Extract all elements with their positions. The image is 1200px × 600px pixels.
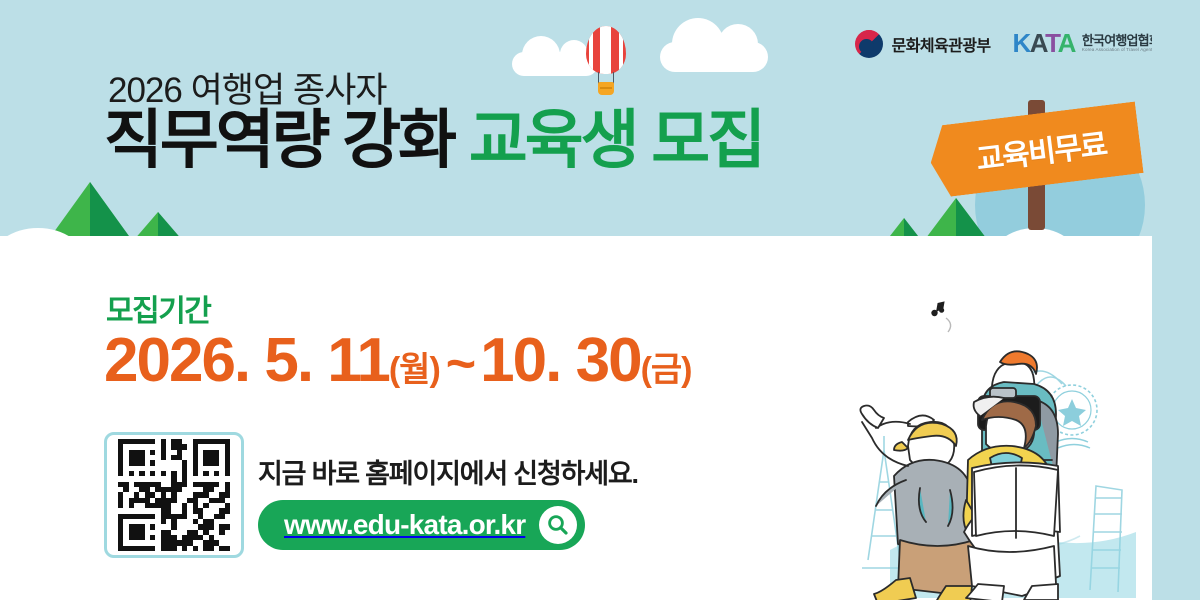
period-label: 모집기간 [106,286,210,330]
right-accent-bar [1152,0,1200,600]
headline-dark: 직무역량 강화 [104,104,454,176]
logo-group: 문화체육관광부 KATA 한국여행업협회 Korea Association o… [855,28,1160,59]
period-separator: ~ [440,335,480,393]
cta-text: 지금 바로 홈페이지에서 신청하세요. [258,452,638,491]
taegeuk-icon [855,30,883,58]
period-dates: 2026. 5. 11(월)~10. 30(금) [104,328,692,393]
traveler-illustration [850,300,1160,600]
qr-code-grid [118,439,230,551]
kata-logo: KATA 한국여행업협회 Korea Association of Travel… [1013,28,1161,59]
cloud-puff [1058,244,1134,306]
kata-wordmark: KATA [1013,28,1075,59]
cloud-icon [660,42,768,72]
status-badge: 교육비무료 [930,90,1140,220]
period-start-date: 2026. 5. 11 [104,326,389,395]
promo-banner: 문화체육관광부 KATA 한국여행업협회 Korea Association o… [0,0,1200,600]
qr-code[interactable] [104,432,244,558]
period-end-day: (금) [641,351,692,389]
ministry-name: 문화체육관광부 [892,32,991,56]
kata-name-kr: 한국여행업협회 [1082,34,1160,48]
signpost-label: 교육비무료 [962,119,1109,180]
website-url-label: www.edu-kata.or.kr [284,509,525,541]
signpost-board: 교육비무료 [926,101,1143,198]
ministry-logo: 문화체육관광부 [855,30,991,58]
kata-name-en: Korea Association of Travel Agents [1082,48,1160,53]
hot-air-balloon-icon [586,26,626,98]
website-link-button[interactable]: www.edu-kata.or.kr [258,500,585,550]
page-title: 직무역량 강화 교육생 모집 [104,108,763,172]
period-start-day: (월) [389,351,440,389]
period-end-date: 10. 30 [480,326,640,395]
search-icon [539,506,577,544]
headline-green: 교육생 모집 [469,104,763,176]
